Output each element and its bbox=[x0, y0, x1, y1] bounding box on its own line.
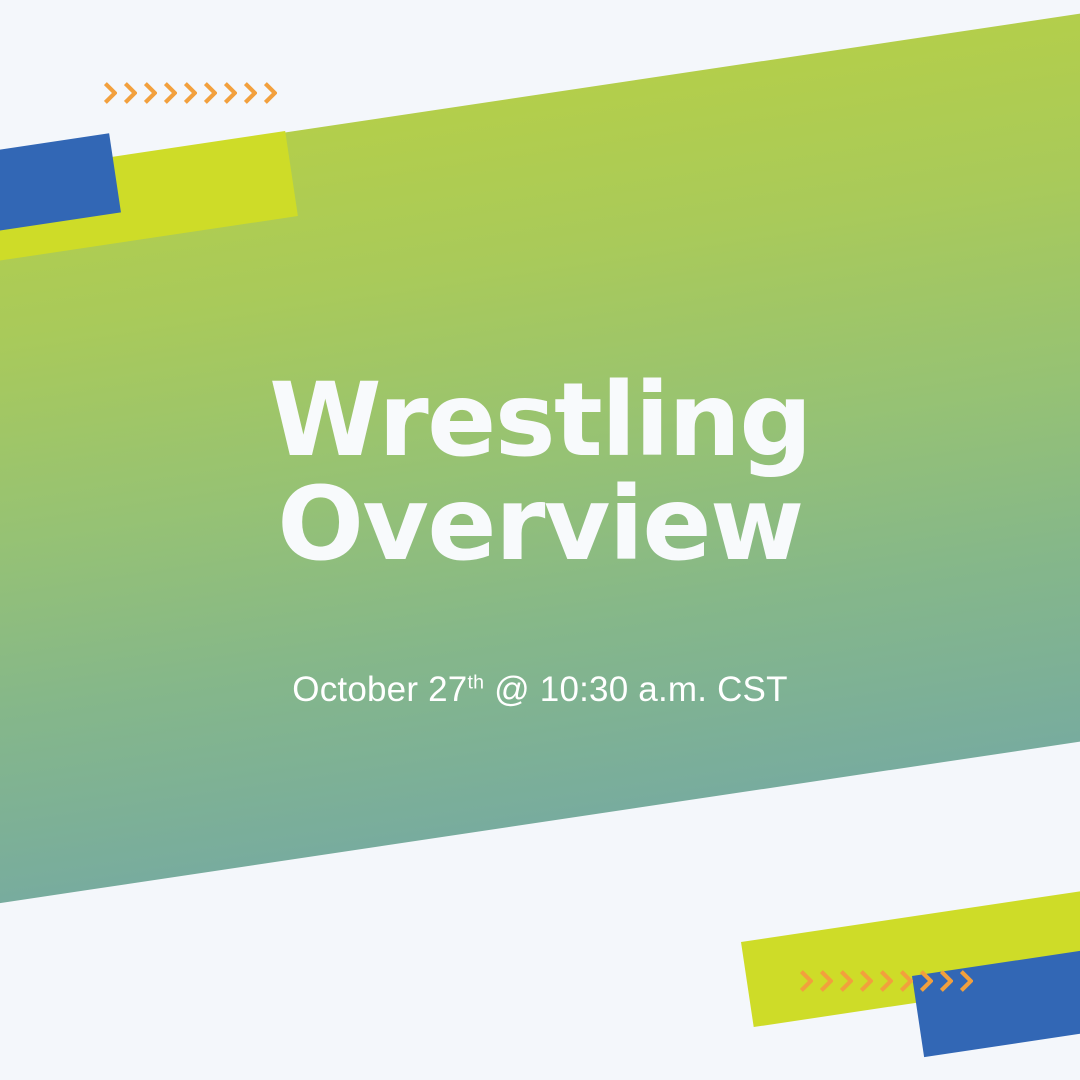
page-title-line-2: Overview bbox=[269, 473, 811, 577]
subtitle-ordinal: th bbox=[467, 671, 484, 693]
subtitle-datetime: October 27th @ 10:30 a.m. CST bbox=[292, 669, 787, 711]
slide-content: Wrestling Overview October 27th @ 10:30 … bbox=[0, 0, 1080, 1080]
subtitle-date: October 27 bbox=[292, 670, 467, 709]
title-slide: Wrestling Overview October 27th @ 10:30 … bbox=[0, 0, 1080, 1080]
page-title-line-1: Wrestling bbox=[269, 369, 811, 473]
subtitle-time: @ 10:30 a.m. CST bbox=[484, 670, 787, 709]
page-title: Wrestling Overview bbox=[269, 369, 811, 577]
